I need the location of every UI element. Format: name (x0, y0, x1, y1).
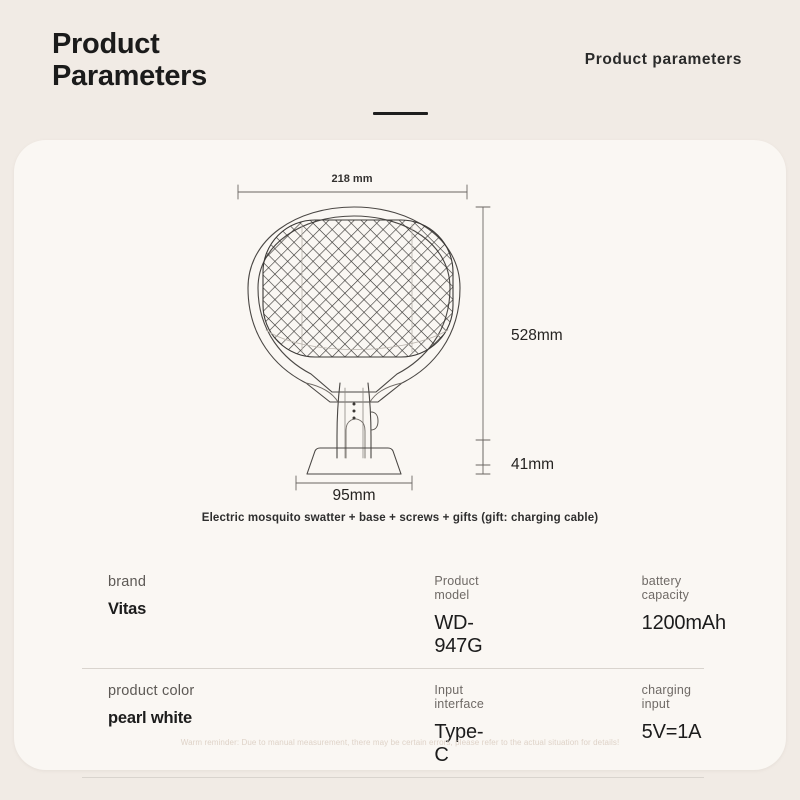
spec-label: battery capacity (642, 574, 704, 602)
spec-value: 1200mAh (642, 612, 704, 635)
title-divider (373, 112, 428, 115)
product-parameters-card: 218 mm 528mm 41mm 95mm Electric mosquito… (14, 140, 786, 770)
dimension-line-height-total (476, 207, 490, 465)
spec-cell-product-model: Product model WD-947G (289, 560, 496, 668)
power-button (371, 412, 378, 430)
dimension-line-height-base (476, 440, 490, 474)
page-title: Product Parameters (52, 28, 382, 93)
header-subtitle: Product parameters (585, 51, 742, 69)
charging-base (307, 448, 401, 474)
table-divider (82, 777, 704, 778)
spec-cell-product-color: product color pearl white (82, 669, 289, 777)
handle-grip-slot (346, 419, 365, 458)
spec-cell-charging-input: charging input 5V=1A (497, 669, 704, 777)
diagram-caption: Electric mosquito swatter + base + screw… (14, 512, 786, 524)
dimension-line-width-top (238, 185, 467, 199)
footer-disclaimer: Warm reminder: Due to manual measurement… (0, 738, 800, 747)
handle-right-wall (368, 383, 371, 458)
handle-left-wall (337, 383, 340, 458)
spec-label: Input interface (434, 683, 496, 711)
spec-label: brand (108, 574, 289, 590)
handle-indicator-dots (353, 403, 356, 420)
spec-value: Vitas (108, 600, 289, 619)
spec-label: product color (108, 683, 289, 699)
product-diagram: 218 mm 528mm 41mm 95mm (14, 140, 786, 540)
dimension-label-width-top: 218 mm (332, 173, 373, 185)
dimension-label-width-base: 95mm (332, 487, 375, 504)
dimension-label-height-total: 528mm (511, 327, 563, 344)
dimension-label-height-base: 41mm (511, 456, 554, 473)
spec-label: Product model (434, 574, 496, 602)
spec-label: charging input (642, 683, 704, 711)
table-row: brand Vitas Product model WD-947G batter… (82, 560, 704, 668)
table-row: product color pearl white Input interfac… (82, 669, 704, 777)
spec-value: pearl white (108, 709, 289, 728)
spec-value: WD-947G (434, 612, 496, 658)
spec-cell-brand: brand Vitas (82, 560, 289, 668)
page-header: Product Parameters Product parameters (0, 0, 800, 130)
spec-cell-input-interface: Input interface Type-C (289, 669, 496, 777)
spec-cell-battery-capacity: battery capacity 1200mAh (497, 560, 704, 668)
